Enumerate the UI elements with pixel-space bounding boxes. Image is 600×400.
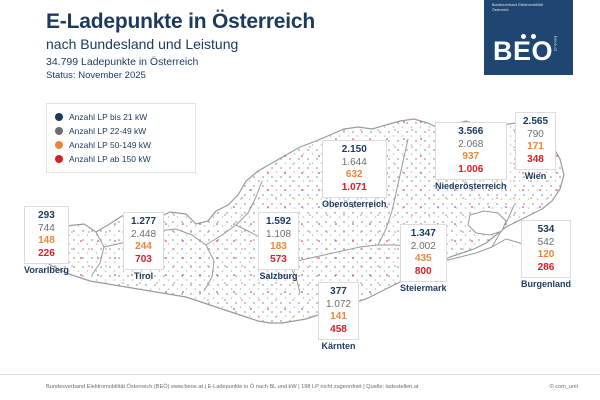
legend-label-22-49kw: Anzahl LP 22-49 kW (69, 126, 146, 136)
state-niederoesterreich-values: 3.566 2.068 937 1.006 (435, 122, 507, 180)
value-22-49kw: 1.108 (266, 229, 291, 242)
value-bis-21kw: 1.592 (266, 216, 291, 229)
value-ab-150kw: 226 (32, 248, 61, 261)
value-bis-21kw: 377 (326, 286, 351, 299)
value-50-149kw: 632 (330, 169, 379, 182)
value-ab-150kw: 1.006 (443, 164, 499, 177)
value-ab-150kw: 286 (529, 262, 563, 275)
value-50-149kw: 141 (326, 311, 351, 324)
value-ab-150kw: 348 (523, 154, 548, 167)
value-50-149kw: 171 (523, 141, 548, 154)
state-steiermark: 1.347 2.002 435 800 Steiermark (400, 224, 447, 293)
state-label-burgenland: Burgenland (521, 279, 571, 289)
value-ab-150kw: 1.071 (330, 182, 379, 195)
beo-logo: Bundesverband Elektromobilität Österreic… (484, 0, 573, 75)
legend-item-50-149kw: Anzahl LP 50-149 kW (55, 138, 187, 152)
value-22-49kw: 2.448 (131, 229, 156, 242)
legend-dot-bis-21kw (55, 113, 63, 121)
state-niederoesterreich: 3.566 2.068 937 1.006 Niederösterreich (435, 122, 507, 191)
state-label-vorarlberg: Vorarlberg (24, 265, 69, 275)
value-22-49kw: 790 (523, 129, 548, 142)
state-salzburg-values: 1.592 1.108 183 573 (258, 212, 299, 270)
value-ab-150kw: 800 (408, 266, 439, 279)
state-oberoesterreich: 2.150 1.644 632 1.071 Oberösterreich (322, 140, 387, 209)
value-ab-150kw: 573 (266, 254, 291, 267)
value-22-49kw: 2.068 (443, 139, 499, 152)
state-wien-values: 2.565 790 171 348 (515, 112, 556, 170)
value-22-49kw: 1.644 (330, 157, 379, 170)
state-kaernten-values: 377 1.072 141 458 (318, 282, 359, 340)
legend-label-ab-150kw: Anzahl LP ab 150 kW (69, 154, 151, 164)
legend-item-bis-21kw: Anzahl LP bis 21 kW (55, 110, 187, 124)
state-tirol: 1.277 2.448 244 703 Tirol (123, 212, 164, 281)
footer-copyright: © com_unit (550, 384, 578, 390)
value-22-49kw: 542 (529, 237, 563, 250)
state-salzburg: 1.592 1.108 183 573 Salzburg (258, 212, 299, 281)
legend-item-ab-150kw: Anzahl LP ab 150 kW (55, 152, 187, 166)
state-label-oberoesterreich: Oberösterreich (322, 199, 387, 209)
value-50-149kw: 148 (32, 235, 61, 248)
state-label-wien: Wien (515, 171, 556, 181)
value-bis-21kw: 293 (32, 210, 61, 223)
legend-label-bis-21kw: Anzahl LP bis 21 kW (69, 112, 147, 122)
value-bis-21kw: 3.566 (443, 126, 499, 139)
legend-dot-22-49kw (55, 127, 63, 135)
value-22-49kw: 2.002 (408, 241, 439, 254)
state-oberoesterreich-values: 2.150 1.644 632 1.071 (322, 140, 387, 198)
status-date: Status: November 2025 (46, 70, 146, 81)
state-label-tirol: Tirol (123, 271, 164, 281)
value-bis-21kw: 1.277 (131, 216, 156, 229)
page-subtitle: nach Bundesland und Leistung (46, 36, 238, 52)
state-wien: 2.565 790 171 348 Wien (515, 112, 556, 181)
page-title: E-Ladepunkte in Österreich (46, 10, 315, 34)
value-bis-21kw: 534 (529, 224, 563, 237)
state-kaernten: 377 1.072 141 458 Kärnten (318, 282, 359, 351)
state-label-steiermark: Steiermark (400, 283, 447, 293)
footer-text: Bundesverband Elektromobilität Österreic… (46, 384, 419, 390)
value-22-49kw: 744 (32, 223, 61, 236)
value-bis-21kw: 1.347 (408, 228, 439, 241)
logo-side-url: beoe.at (553, 36, 558, 51)
state-vorarlberg: 293 744 148 226 Vorarlberg (24, 206, 69, 275)
state-steiermark-values: 1.347 2.002 435 800 (400, 224, 447, 282)
legend-label-50-149kw: Anzahl LP 50-149 kW (69, 140, 151, 150)
value-bis-21kw: 2.150 (330, 144, 379, 157)
value-50-149kw: 435 (408, 253, 439, 266)
state-vorarlberg-values: 293 744 148 226 (24, 206, 69, 264)
state-label-salzburg: Salzburg (258, 271, 299, 281)
state-burgenland-values: 534 542 120 286 (521, 220, 571, 278)
value-ab-150kw: 458 (326, 324, 351, 337)
value-50-149kw: 244 (131, 241, 156, 254)
state-burgenland: 534 542 120 286 Burgenland (521, 220, 571, 289)
value-bis-21kw: 2.565 (523, 116, 548, 129)
state-label-kaernten: Kärnten (318, 341, 359, 351)
value-50-149kw: 937 (443, 151, 499, 164)
footer-divider (0, 374, 600, 375)
logo-wordmark: BEO (493, 36, 553, 67)
legend: Anzahl LP bis 21 kW Anzahl LP 22-49 kW A… (46, 103, 196, 173)
value-ab-150kw: 703 (131, 254, 156, 267)
state-label-niederoesterreich: Niederösterreich (435, 181, 507, 191)
value-50-149kw: 120 (529, 249, 563, 262)
legend-dot-ab-150kw (55, 155, 63, 163)
state-tirol-values: 1.277 2.448 244 703 (123, 212, 164, 270)
logo-organisation-name: Bundesverband Elektromobilität Österreic… (492, 3, 554, 12)
total-charging-points: 34.799 Ladepunkte in Österreich (46, 56, 198, 68)
legend-dot-50-149kw (55, 141, 63, 149)
value-50-149kw: 183 (266, 241, 291, 254)
value-22-49kw: 1.072 (326, 299, 351, 312)
legend-item-22-49kw: Anzahl LP 22-49 kW (55, 124, 187, 138)
